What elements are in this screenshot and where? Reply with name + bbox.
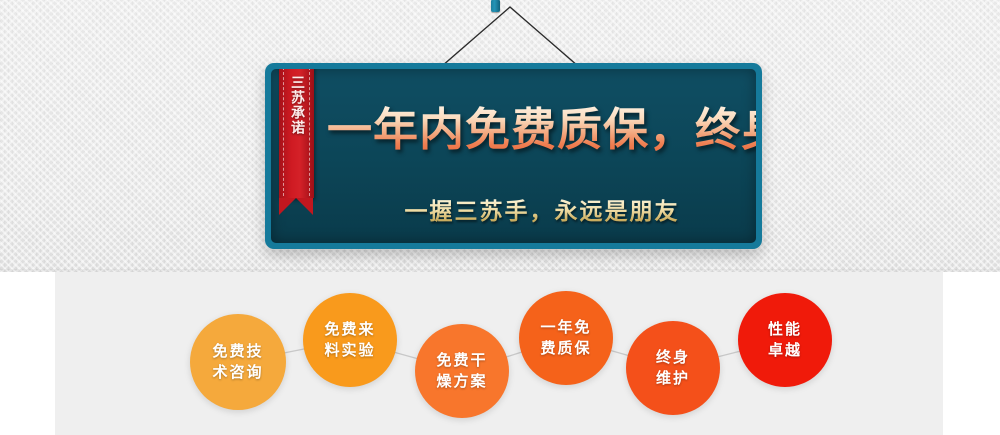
process-bubble[interactable]: 终身 维护 — [626, 321, 720, 415]
process-bubble-label: 免费技 术咨询 — [212, 341, 263, 383]
process-bubbles: 免费技 术咨询免费来 料实验免费干 燥方案一年免 费质保终身 维护性能 卓越 — [0, 0, 1000, 435]
process-bubble-label: 一年免 费质保 — [540, 317, 591, 359]
process-bubble-label: 免费来 料实验 — [324, 319, 375, 361]
process-bubble[interactable]: 免费干 燥方案 — [415, 324, 509, 418]
process-bubble[interactable]: 一年免 费质保 — [519, 291, 613, 385]
ribbon-label: 三苏承诺 — [287, 69, 306, 135]
process-bubble-label: 终身 维护 — [656, 347, 690, 389]
promo-banner-page: 三苏承诺 一年内免费质保，终身维护 一握三苏手，永远是朋友 免费技 术咨询免费来… — [0, 0, 1000, 435]
process-bubble-label: 性能 卓越 — [768, 319, 802, 361]
process-bubble[interactable]: 免费来 料实验 — [303, 293, 397, 387]
process-bubble[interactable]: 性能 卓越 — [738, 293, 832, 387]
process-bubble-label: 免费干 燥方案 — [436, 350, 487, 392]
process-bubble[interactable]: 免费技 术咨询 — [190, 314, 286, 410]
